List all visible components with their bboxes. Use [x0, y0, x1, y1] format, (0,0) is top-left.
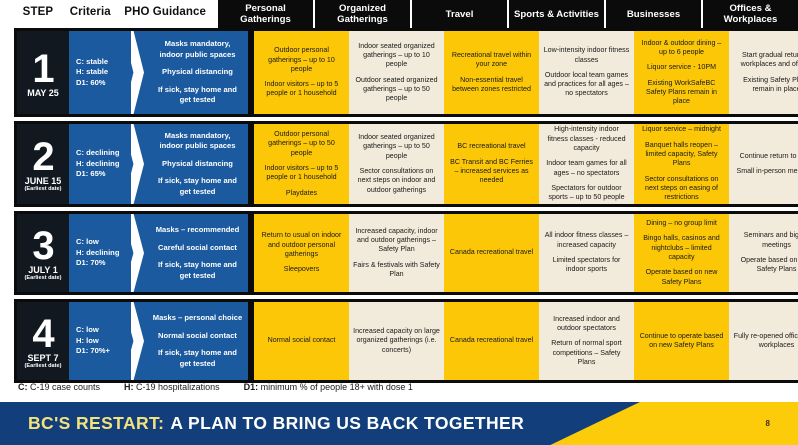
category-cell: Outdoor personal gatherings – up to 50 p… — [254, 124, 349, 204]
category-cell-line: Continue return to work — [740, 152, 798, 161]
category-cell: Start gradual return to workplaces and o… — [729, 31, 798, 114]
footer-banner: BC'S RESTART: A PLAN TO BRING US BACK TO… — [0, 402, 798, 445]
category-cell-line: Liquor service – midnight — [642, 125, 721, 134]
table-row: 3JULY 1(Earliest date)C: lowH: declining… — [0, 211, 798, 295]
category-cell-line: Normal social contact — [268, 336, 336, 345]
criteria-line: D1: 70% — [76, 258, 119, 269]
chevron-divider-icon — [131, 214, 147, 292]
category-cell-line: Bingo halls, casinos and nightclubs – li… — [638, 234, 725, 262]
criteria-cell: C: stableH: stableD1: 60% — [69, 31, 131, 114]
step-cell: 2JUNE 15(Earliest date) — [17, 124, 69, 204]
pho-guidance-line: Masks – personal choice — [153, 313, 242, 324]
step-number: 4 — [32, 317, 53, 351]
category-cell-line: Playdates — [286, 189, 317, 198]
step-date: SEPT 7 — [27, 353, 58, 363]
category-cell: Indoor seated organized gatherings – up … — [349, 124, 444, 204]
category-cell-line: Limited spectators for indoor sports — [543, 256, 630, 275]
category-cell-line: Recreational travel within your zone — [448, 51, 535, 70]
legend-item: C: C-19 case counts — [18, 382, 100, 392]
category-tab-3[interactable]: Sports & Activities — [509, 0, 604, 28]
step-date: JUNE 15 — [25, 176, 62, 186]
row-left-block: 4SEPT 7(Earliest date)C: lowH: lowD1: 70… — [14, 299, 251, 383]
category-cell: Canada recreational travel — [444, 214, 539, 292]
category-cell-line: Existing WorkSafeBC Safety Plans remain … — [638, 79, 725, 107]
table-row: 1MAY 25C: stableH: stableD1: 60%Masks ma… — [0, 28, 798, 117]
category-cell-line: Outdoor personal gatherings – up to 50 p… — [258, 130, 345, 158]
category-cell-line: Operate based on new Safety Plans — [638, 268, 725, 287]
category-cell-line: Banquet halls reopen – limited capacity,… — [638, 141, 725, 169]
category-cell-line: Indoor visitors – up to 5 people or 1 ho… — [258, 80, 345, 99]
category-tab-0[interactable]: Personal Gatherings — [218, 0, 313, 28]
step-number: 2 — [32, 140, 53, 174]
category-cell: All indoor fitness classes – increased c… — [539, 214, 634, 292]
step-number: 1 — [32, 52, 53, 86]
pho-guidance-line: Masks – recommended — [156, 225, 240, 236]
table-row: 4SEPT 7(Earliest date)C: lowH: lowD1: 70… — [0, 299, 798, 383]
category-cell: Seminars and bigger meetingsOperate base… — [729, 214, 798, 292]
legend-key: H: — [124, 382, 134, 392]
category-cell: Dining – no group limitBingo halls, casi… — [634, 214, 729, 292]
step-number: 3 — [32, 229, 53, 263]
category-cell: Liquor service – midnightBanquet halls r… — [634, 124, 729, 204]
criteria-line: H: declining — [76, 159, 119, 170]
category-cell-line: Increased capacity on large organized ga… — [353, 327, 440, 355]
legend-text: C-19 case counts — [28, 382, 101, 392]
step-cell: 3JULY 1(Earliest date) — [17, 214, 69, 292]
category-cell-line: Continue to operate based on new Safety … — [638, 332, 725, 351]
step-date: JULY 1 — [28, 265, 58, 275]
legend-item: D1: minimum % of people 18+ with dose 1 — [244, 382, 413, 392]
criteria-line: C: low — [76, 237, 119, 248]
category-cell: Continue to operate based on new Safety … — [634, 302, 729, 380]
category-cell: Canada recreational travel — [444, 302, 539, 380]
criteria-cell: C: lowH: decliningD1: 70% — [69, 214, 131, 292]
step-date: MAY 25 — [27, 88, 59, 98]
chevron-divider-icon — [131, 124, 147, 204]
legend-key: D1: — [244, 382, 259, 392]
pho-guidance-line: Physical distancing — [162, 159, 233, 170]
pho-guidance-line: Masks mandatory, indoor public spaces — [152, 39, 243, 60]
pho-guidance-line: If sick, stay home and get tested — [152, 176, 243, 197]
criteria-line: D1: 70%+ — [76, 346, 110, 357]
category-cell-line: Canada recreational travel — [450, 248, 533, 257]
pho-guidance-line: If sick, stay home and get tested — [152, 260, 243, 281]
category-cell-line: Non-essential travel between zones restr… — [448, 76, 535, 95]
pho-guidance-line: If sick, stay home and get tested — [152, 348, 243, 369]
legend-text: C-19 hospitalizations — [134, 382, 220, 392]
category-cell-line: Return of normal sport competitions – Sa… — [543, 339, 630, 367]
category-cell-line: Increased indoor and outdoor spectators — [543, 315, 630, 334]
category-cell-line: Existing Safety Plans remain in place — [733, 76, 798, 95]
criteria-line: H: stable — [76, 67, 108, 78]
criteria-line: H: low — [76, 336, 110, 347]
row-left-block: 3JULY 1(Earliest date)C: lowH: declining… — [14, 211, 251, 295]
category-cell-line: Dining – no group limit — [646, 219, 717, 228]
category-cell-line: Indoor seated organized gatherings – up … — [353, 133, 440, 161]
category-cell-line: Sleepovers — [284, 265, 320, 274]
category-cell-line: Indoor & outdoor dining – up to 6 people — [638, 39, 725, 58]
pho-guidance-line: Careful social contact — [158, 243, 237, 254]
header-label-criteria: Criteria — [62, 0, 119, 24]
pho-guidance-cell: Masks mandatory, indoor public spacesPhy… — [147, 124, 248, 204]
category-cell-line: High-intensity indoor fitness classes - … — [543, 125, 630, 153]
legend: C: C-19 case countsH: C-19 hospitalizati… — [0, 377, 798, 397]
row-left-block: 1MAY 25C: stableH: stableD1: 60%Masks ma… — [14, 28, 251, 117]
row-right-block: Return to usual on indoor and outdoor pe… — [251, 211, 798, 295]
category-cell-line: Fairs & festivals with Safety Plan — [353, 261, 440, 280]
pho-guidance-line: Physical distancing — [162, 67, 233, 78]
pho-guidance-cell: Masks – personal choiceNormal social con… — [147, 302, 248, 380]
pho-guidance-cell: Masks mandatory, indoor public spacesPhy… — [147, 31, 248, 114]
category-cell: Indoor seated organized gatherings – up … — [349, 31, 444, 114]
category-cell-line: Outdoor local team games and practices f… — [543, 71, 630, 99]
category-cell: Increased capacity on large organized ga… — [349, 302, 444, 380]
table-header: STEP Criteria PHO Guidance Personal Gath… — [0, 0, 798, 28]
category-cell-line: All indoor fitness classes – increased c… — [543, 231, 630, 250]
criteria-line: D1: 65% — [76, 169, 119, 180]
category-cell-line: Seminars and bigger meetings — [733, 231, 798, 250]
pho-guidance-line: Normal social contact — [158, 331, 237, 342]
category-cell: Fully re-opened offices and workplaces — [729, 302, 798, 380]
category-cell-line: Fully re-opened offices and workplaces — [733, 332, 798, 351]
pho-guidance-line: If sick, stay home and get tested — [152, 85, 243, 106]
criteria-line: H: declining — [76, 248, 119, 259]
banner-title: BC'S RESTART: A PLAN TO BRING US BACK TO… — [28, 402, 524, 445]
steps-table: 1MAY 25C: stableH: stableD1: 60%Masks ma… — [0, 28, 798, 376]
category-cell: Continue return to workSmall in-person m… — [729, 124, 798, 204]
category-tab-4[interactable]: Businesses — [606, 0, 701, 28]
banner-title-rest: A PLAN TO BRING US BACK TOGETHER — [170, 413, 524, 434]
category-cell-line: Increased capacity, indoor and outdoor g… — [353, 227, 440, 255]
category-cell-line: Spectators for outdoor sports – up to 50… — [543, 184, 630, 203]
category-cell: Increased capacity, indoor and outdoor g… — [349, 214, 444, 292]
category-cell-line: Low-intensity indoor fitness classes — [543, 46, 630, 65]
table-row: 2JUNE 15(Earliest date)C: decliningH: de… — [0, 121, 798, 207]
row-left-block: 2JUNE 15(Earliest date)C: decliningH: de… — [14, 121, 251, 207]
category-cell-line: Indoor visitors – up to 5 people or 1 ho… — [258, 164, 345, 183]
category-cell: Outdoor personal gatherings – up to 10 p… — [254, 31, 349, 114]
category-cell: Increased indoor and outdoor spectatorsR… — [539, 302, 634, 380]
category-cell-line: Return to usual on indoor and outdoor pe… — [258, 231, 345, 259]
category-cell-line: Canada recreational travel — [450, 336, 533, 345]
category-tab-5[interactable]: Offices & Workplaces — [703, 0, 798, 28]
category-cell: Recreational travel within your zoneNon-… — [444, 31, 539, 114]
header-label-step: STEP — [14, 0, 62, 24]
category-cell-line: Outdoor seated organized gatherings – up… — [353, 76, 440, 104]
criteria-cell: C: decliningH: decliningD1: 65% — [69, 124, 131, 204]
category-cell-line: Indoor seated organized gatherings – up … — [353, 42, 440, 70]
criteria-line: C: stable — [76, 57, 108, 68]
category-cell: Normal social contact — [254, 302, 349, 380]
category-cell: BC recreational travelBC Transit and BC … — [444, 124, 539, 204]
criteria-line: D1: 60% — [76, 78, 108, 89]
row-right-block: Normal social contactIncreased capacity … — [251, 299, 798, 383]
category-cell-line: Liquor service - 10PM — [647, 63, 716, 72]
row-right-block: Outdoor personal gatherings – up to 10 p… — [251, 28, 798, 117]
category-cell-line: Outdoor personal gatherings – up to 10 p… — [258, 46, 345, 74]
category-cell-line: Small in-person meetings — [736, 167, 798, 176]
legend-text: minimum % of people 18+ with dose 1 — [258, 382, 413, 392]
category-header-tabs: Personal GatheringsOrganized GatheringsT… — [218, 0, 798, 28]
restart-plan-infographic: STEP Criteria PHO Guidance Personal Gath… — [0, 0, 798, 445]
criteria-line: C: declining — [76, 148, 119, 159]
category-cell-line: Sector consultations on next steps on ea… — [638, 175, 725, 203]
step-cell: 1MAY 25 — [17, 31, 69, 114]
category-cell: High-intensity indoor fitness classes - … — [539, 124, 634, 204]
category-tab-1[interactable]: Organized Gatherings — [315, 0, 410, 28]
step-cell: 4SEPT 7(Earliest date) — [17, 302, 69, 380]
pho-guidance-cell: Masks – recommendedCareful social contac… — [147, 214, 248, 292]
criteria-cell: C: lowH: lowD1: 70%+ — [69, 302, 131, 380]
pho-guidance-line: Masks mandatory, indoor public spaces — [152, 131, 243, 152]
category-cell-line: Start gradual return to workplaces and o… — [733, 51, 798, 70]
category-cell-line: BC Transit and BC Ferries – increased se… — [448, 158, 535, 186]
legend-key: C: — [18, 382, 28, 392]
category-cell: Indoor & outdoor dining – up to 6 people… — [634, 31, 729, 114]
step-date-note: (Earliest date) — [25, 363, 62, 370]
category-cell: Return to usual on indoor and outdoor pe… — [254, 214, 349, 292]
category-cell-line: Operate based on new Safety Plans — [733, 256, 798, 275]
step-date-note: (Earliest date) — [25, 275, 62, 282]
criteria-line: C: low — [76, 325, 110, 336]
category-cell: Low-intensity indoor fitness classesOutd… — [539, 31, 634, 114]
page-number: 8 — [766, 402, 770, 445]
header-label-pho-guidance: PHO Guidance — [119, 0, 212, 24]
category-cell-line: Indoor team games for all ages – no spec… — [543, 159, 630, 178]
category-cell-line: Sector consultations on next steps on in… — [353, 167, 440, 195]
banner-title-highlight: BC'S RESTART: — [28, 413, 164, 434]
chevron-divider-icon — [131, 31, 147, 114]
row-right-block: Outdoor personal gatherings – up to 50 p… — [251, 121, 798, 207]
category-tab-2[interactable]: Travel — [412, 0, 507, 28]
chevron-divider-icon — [131, 302, 147, 380]
category-cell-line: BC recreational travel — [457, 142, 525, 151]
legend-item: H: C-19 hospitalizations — [124, 382, 220, 392]
step-date-note: (Earliest date) — [25, 186, 62, 193]
